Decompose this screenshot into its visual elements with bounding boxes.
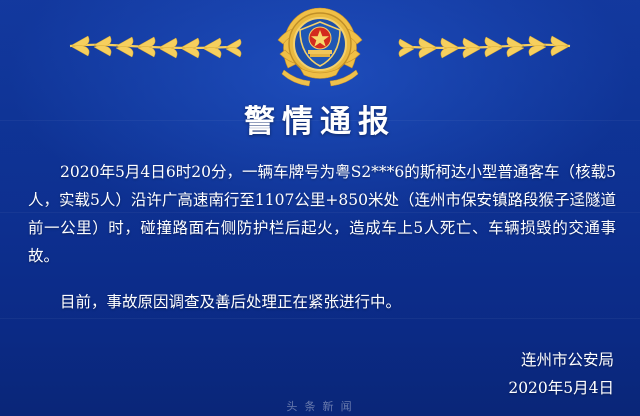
signature-block: 连州市公安局 2020年5月4日 bbox=[508, 346, 614, 402]
police-notice-poster: 警情通报 2020年5月4日6时20分，一辆车牌号为粤S2***6的斯柯达小型普… bbox=[0, 0, 640, 416]
watermark-text: 头 条 新 闻 bbox=[286, 398, 353, 414]
signature-date: 2020年5月4日 bbox=[508, 374, 614, 402]
poster-header bbox=[0, 0, 640, 92]
wheat-laurel-left-icon bbox=[60, 26, 290, 68]
police-badge-icon bbox=[274, 4, 366, 90]
wheat-laurel-right-icon bbox=[350, 26, 580, 68]
page-title: 警情通报 bbox=[0, 96, 640, 141]
signature-organization: 连州市公安局 bbox=[508, 346, 614, 374]
notice-body: 2020年5月4日6时20分，一辆车牌号为粤S2***6的斯柯达小型普通客车（核… bbox=[28, 158, 616, 316]
paragraph-1: 2020年5月4日6时20分，一辆车牌号为粤S2***6的斯柯达小型普通客车（核… bbox=[28, 158, 616, 270]
paragraph-2: 目前，事故原因调查及善后处理正在紧张进行中。 bbox=[28, 288, 616, 316]
